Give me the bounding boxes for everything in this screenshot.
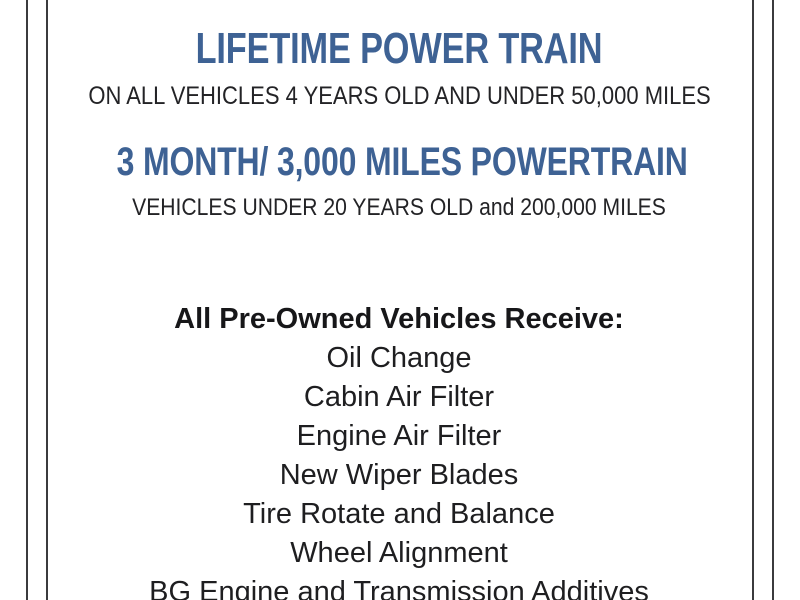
page-rule-outer-right — [772, 0, 774, 600]
list-item: Cabin Air Filter — [46, 378, 752, 417]
services-heading: All Pre-Owned Vehicles Receive: — [46, 300, 752, 339]
page-rule-inner-right — [752, 0, 754, 600]
list-item: BG Engine and Transmission Additives — [46, 573, 752, 600]
warranty-headline-3month-powertrain: 3 MONTH/ 3,000 MILES POWERTRAIN — [117, 142, 682, 182]
services-section: All Pre-Owned Vehicles Receive: Oil Chan… — [46, 300, 752, 600]
list-item: Wheel Alignment — [46, 534, 752, 573]
page-rule-outer-left — [26, 0, 28, 600]
warranty-flyer: LIFETIME POWER TRAIN ON ALL VEHICLES 4 Y… — [0, 0, 800, 600]
warranty-headline-lifetime-powertrain: LIFETIME POWER TRAIN — [124, 27, 675, 71]
list-item: New Wiper Blades — [46, 456, 752, 495]
flyer-content: LIFETIME POWER TRAIN ON ALL VEHICLES 4 Y… — [46, 0, 752, 600]
list-item: Oil Change — [46, 339, 752, 378]
list-item: Tire Rotate and Balance — [46, 495, 752, 534]
warranty-subtitle-3month-powertrain: VEHICLES UNDER 20 YEARS OLD and 200,000 … — [88, 196, 709, 220]
list-item: Engine Air Filter — [46, 417, 752, 456]
services-list: Oil Change Cabin Air Filter Engine Air F… — [46, 339, 752, 600]
warranty-subtitle-lifetime-powertrain: ON ALL VEHICLES 4 YEARS OLD AND UNDER 50… — [88, 84, 709, 109]
